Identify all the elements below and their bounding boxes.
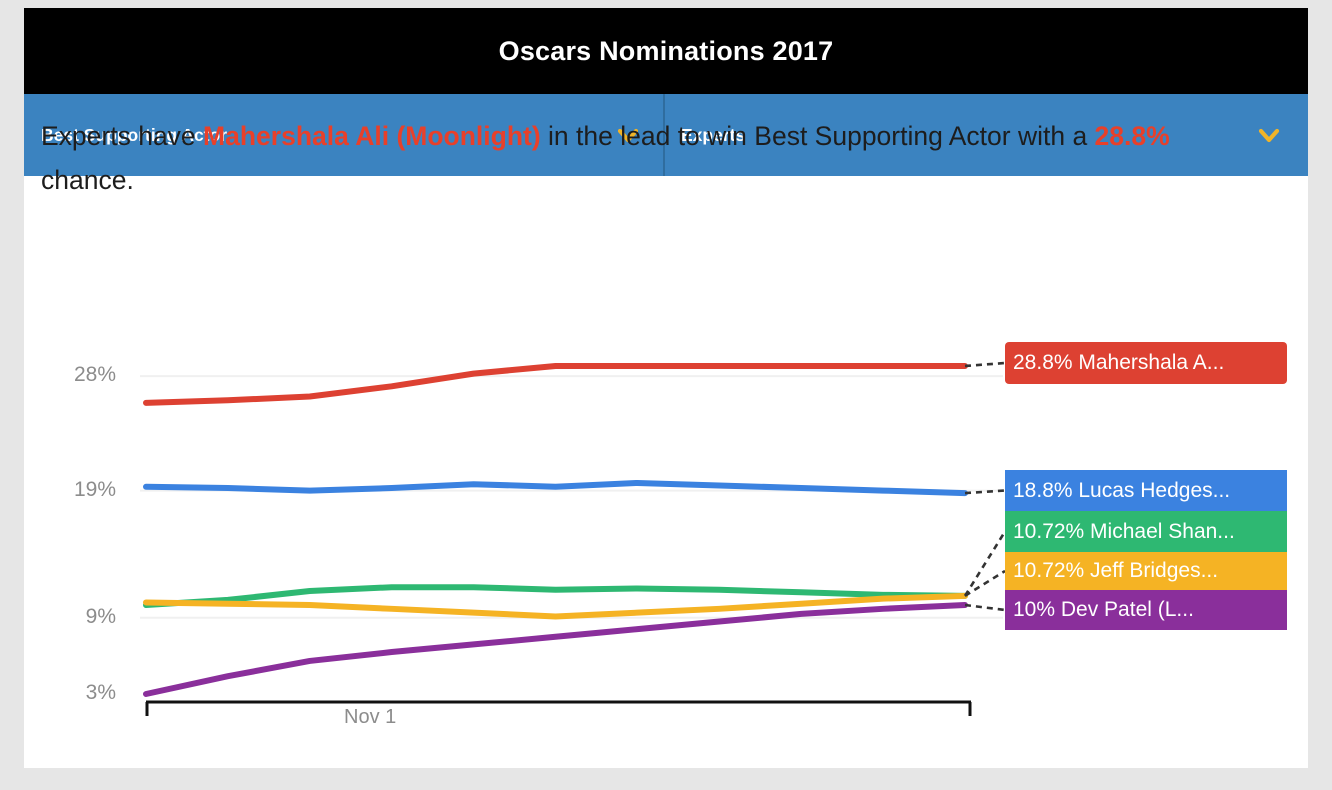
leader-line <box>965 363 1005 366</box>
series-line-2 <box>146 587 965 605</box>
chart-x-tick-label: Nov 1 <box>344 706 396 729</box>
headline-middle: in the lead to win Best Supporting Actor… <box>541 121 1095 151</box>
chart-gridlines <box>140 376 1003 618</box>
headline-sentence: Experts have Mahershala Ali (Moonlight) … <box>41 114 1251 202</box>
series-legend-item[interactable]: 28.8% Mahershala A... <box>1005 342 1287 384</box>
y-axis-tick: 19% <box>24 478 116 502</box>
leader-line <box>965 532 1005 596</box>
headline-prefix: Experts have <box>41 121 203 151</box>
title-bar: Oscars Nominations 2017 <box>24 8 1308 94</box>
series-line-1 <box>146 483 965 493</box>
series-legend-item[interactable]: 10% Dev Patel (L... <box>1005 590 1287 630</box>
series-legend-item[interactable]: 18.8% Lucas Hedges... <box>1005 470 1287 511</box>
page-title: Oscars Nominations 2017 <box>499 36 834 67</box>
leader-line <box>965 605 1005 610</box>
headline-percent: 28.8% <box>1095 121 1170 151</box>
series-line-0 <box>146 366 965 403</box>
chart-leader-lines <box>965 363 1005 610</box>
leader-line <box>965 571 1005 596</box>
chart-series-lines <box>146 366 965 694</box>
chart-card: Oscars Nominations 2017 Best Supporting … <box>24 8 1308 768</box>
series-legend-item[interactable]: 10.72% Jeff Bridges... <box>1005 552 1287 590</box>
series-legend-item[interactable]: 10.72% Michael Shan... <box>1005 511 1287 552</box>
chart-axis-frame <box>146 702 971 716</box>
series-line-3 <box>146 596 965 617</box>
y-axis-tick: 9% <box>24 605 116 629</box>
chevron-down-icon[interactable] <box>1256 122 1282 148</box>
headline-leader-name: Mahershala Ali (Moonlight) <box>203 121 541 151</box>
series-line-4 <box>146 605 965 694</box>
leader-line <box>965 491 1005 494</box>
y-axis-tick: 3% <box>24 681 116 705</box>
headline-suffix: chance. <box>41 165 134 195</box>
y-axis-tick: 28% <box>24 363 116 387</box>
